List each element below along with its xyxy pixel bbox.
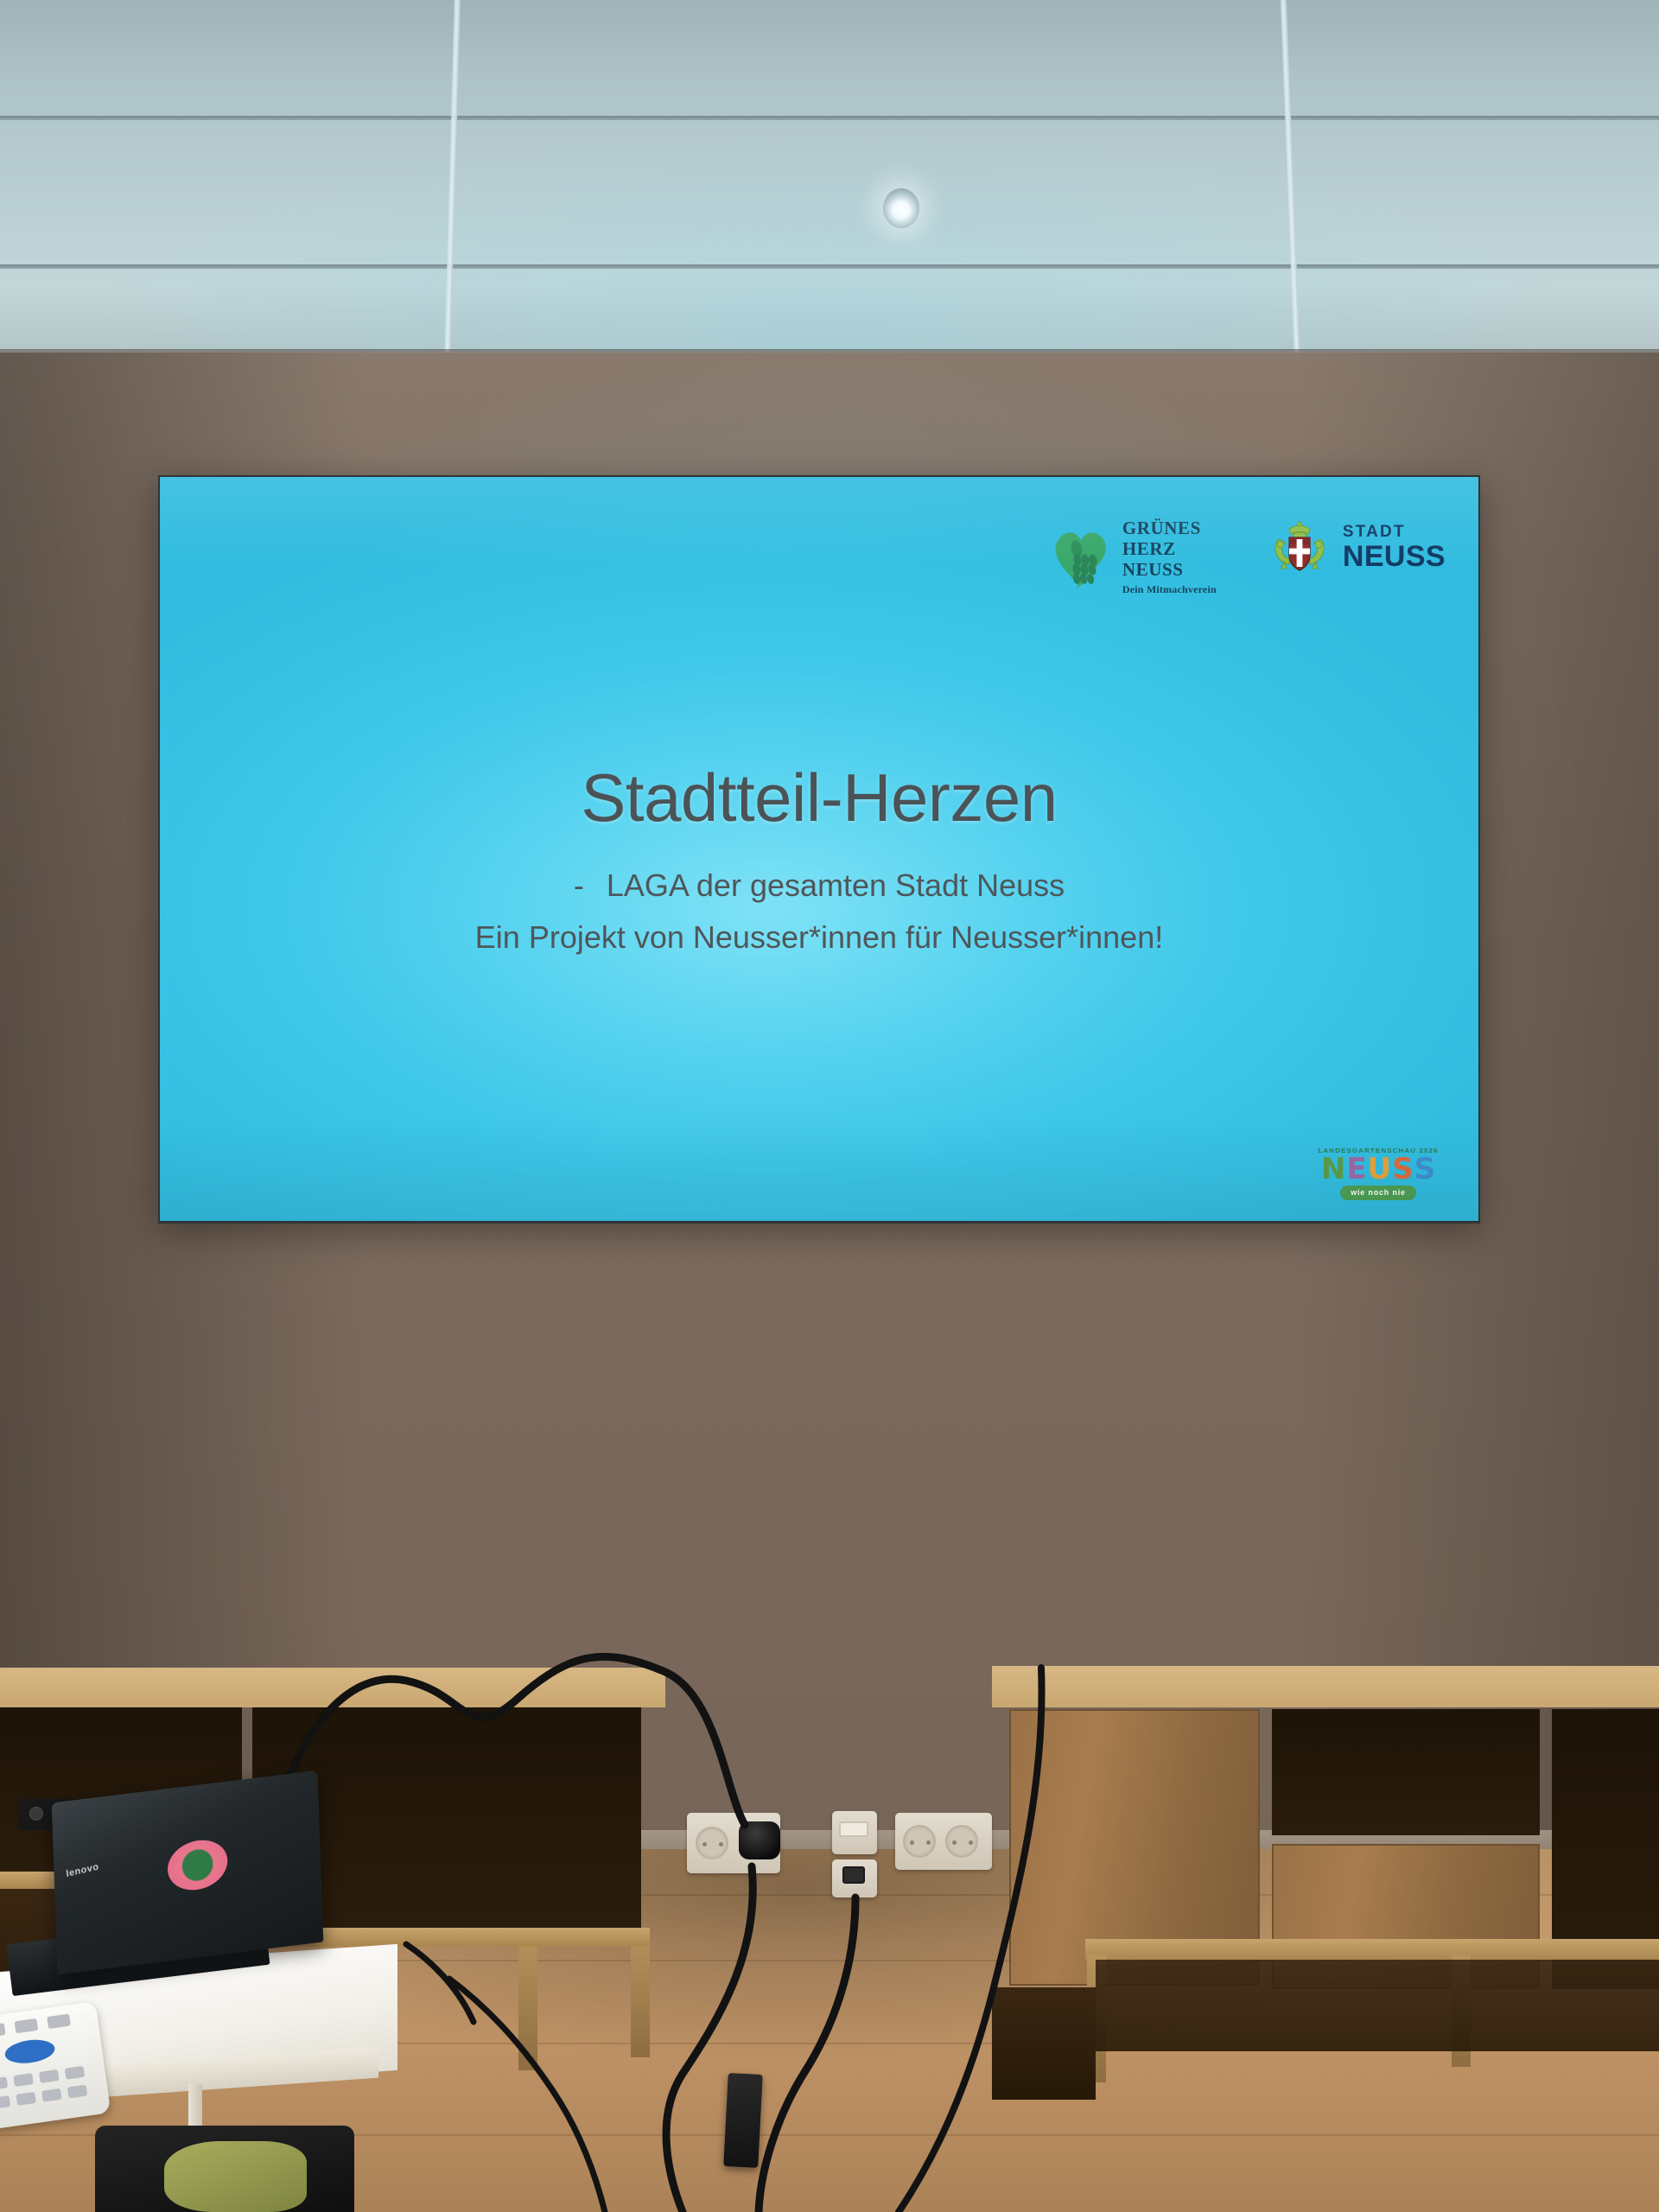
socket-hole[interactable]: [903, 1825, 936, 1858]
black-schuko-plug[interactable]: [739, 1821, 780, 1859]
credenza-left-leg: [631, 1928, 650, 2057]
projection-screen: GRÜNES HERZ NEUSS Dein Mitmachverein: [160, 477, 1478, 1221]
credenza-right-open-shelf: [1272, 1709, 1540, 1835]
socket-hole[interactable]: [696, 1827, 728, 1859]
socket-hole[interactable]: [945, 1825, 978, 1858]
credenza-left-leg: [518, 1928, 537, 2070]
network-data-port-panel[interactable]: [832, 1811, 877, 1854]
oak-credenza-right-top: [992, 1666, 1659, 1707]
lenovo-logo: lenovo: [66, 1862, 99, 1880]
credenza-right-plinth: [992, 1987, 1096, 2100]
data-port-plugged[interactable]: [842, 1866, 865, 1884]
bag-contents-cloth: [164, 2141, 307, 2212]
white-presenter-remote[interactable]: [0, 2001, 111, 2131]
recessed-downlight-icon: [883, 188, 919, 228]
lenovo-laptop-lid[interactable]: lenovo: [52, 1770, 324, 1974]
room-scene: GRÜNES HERZ NEUSS Dein Mitmachverein: [0, 0, 1659, 2212]
ceiling-glow: [0, 0, 1659, 363]
schuko-double-socket-right[interactable]: [895, 1813, 992, 1870]
screen-edge-shading: [160, 477, 1478, 1221]
laptop-power-adapter: [723, 2073, 763, 2168]
credenza-right-under-shadow: [1096, 1960, 1659, 2051]
laptop-sticker-icon: [164, 1834, 231, 1897]
oak-credenza-left-top: [0, 1668, 665, 1707]
remote-power-button[interactable]: [3, 2037, 56, 2066]
ceiling-tile-seam: [0, 116, 1659, 120]
credenza-right-base-rail: [1085, 1939, 1659, 1960]
data-port[interactable]: [839, 1821, 868, 1837]
data-port-lower[interactable]: [832, 1859, 877, 1897]
ceiling-tile-seam: [0, 264, 1659, 269]
ceiling: [0, 0, 1659, 363]
